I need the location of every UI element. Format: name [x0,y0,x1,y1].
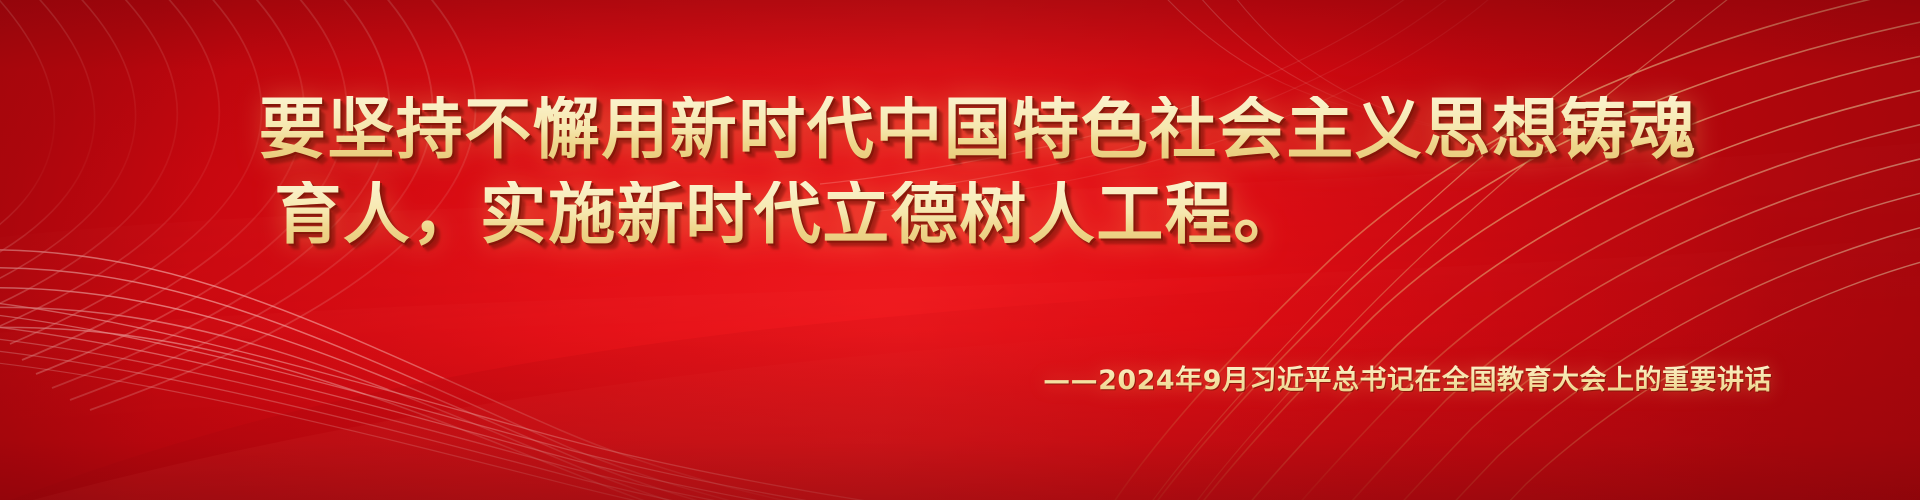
headline-block: 要坚持不懈用新时代中国特色社会主义思想铸魂 育人，实施新时代立德树人工程。 [0,96,1920,248]
headline-line-1: 要坚持不懈用新时代中国特色社会主义思想铸魂 [36,96,1920,163]
banner-content: 要坚持不懈用新时代中国特色社会主义思想铸魂 育人，实施新时代立德树人工程。 ——… [0,0,1920,500]
attribution-text: ——2024年9月习近平总书记在全国教育大会上的重要讲话 [1043,358,1772,397]
slogan-banner: 要坚持不懈用新时代中国特色社会主义思想铸魂 育人，实施新时代立德树人工程。 ——… [0,0,1920,500]
headline-line-2: 育人，实施新时代立德树人工程。 [0,181,1920,248]
